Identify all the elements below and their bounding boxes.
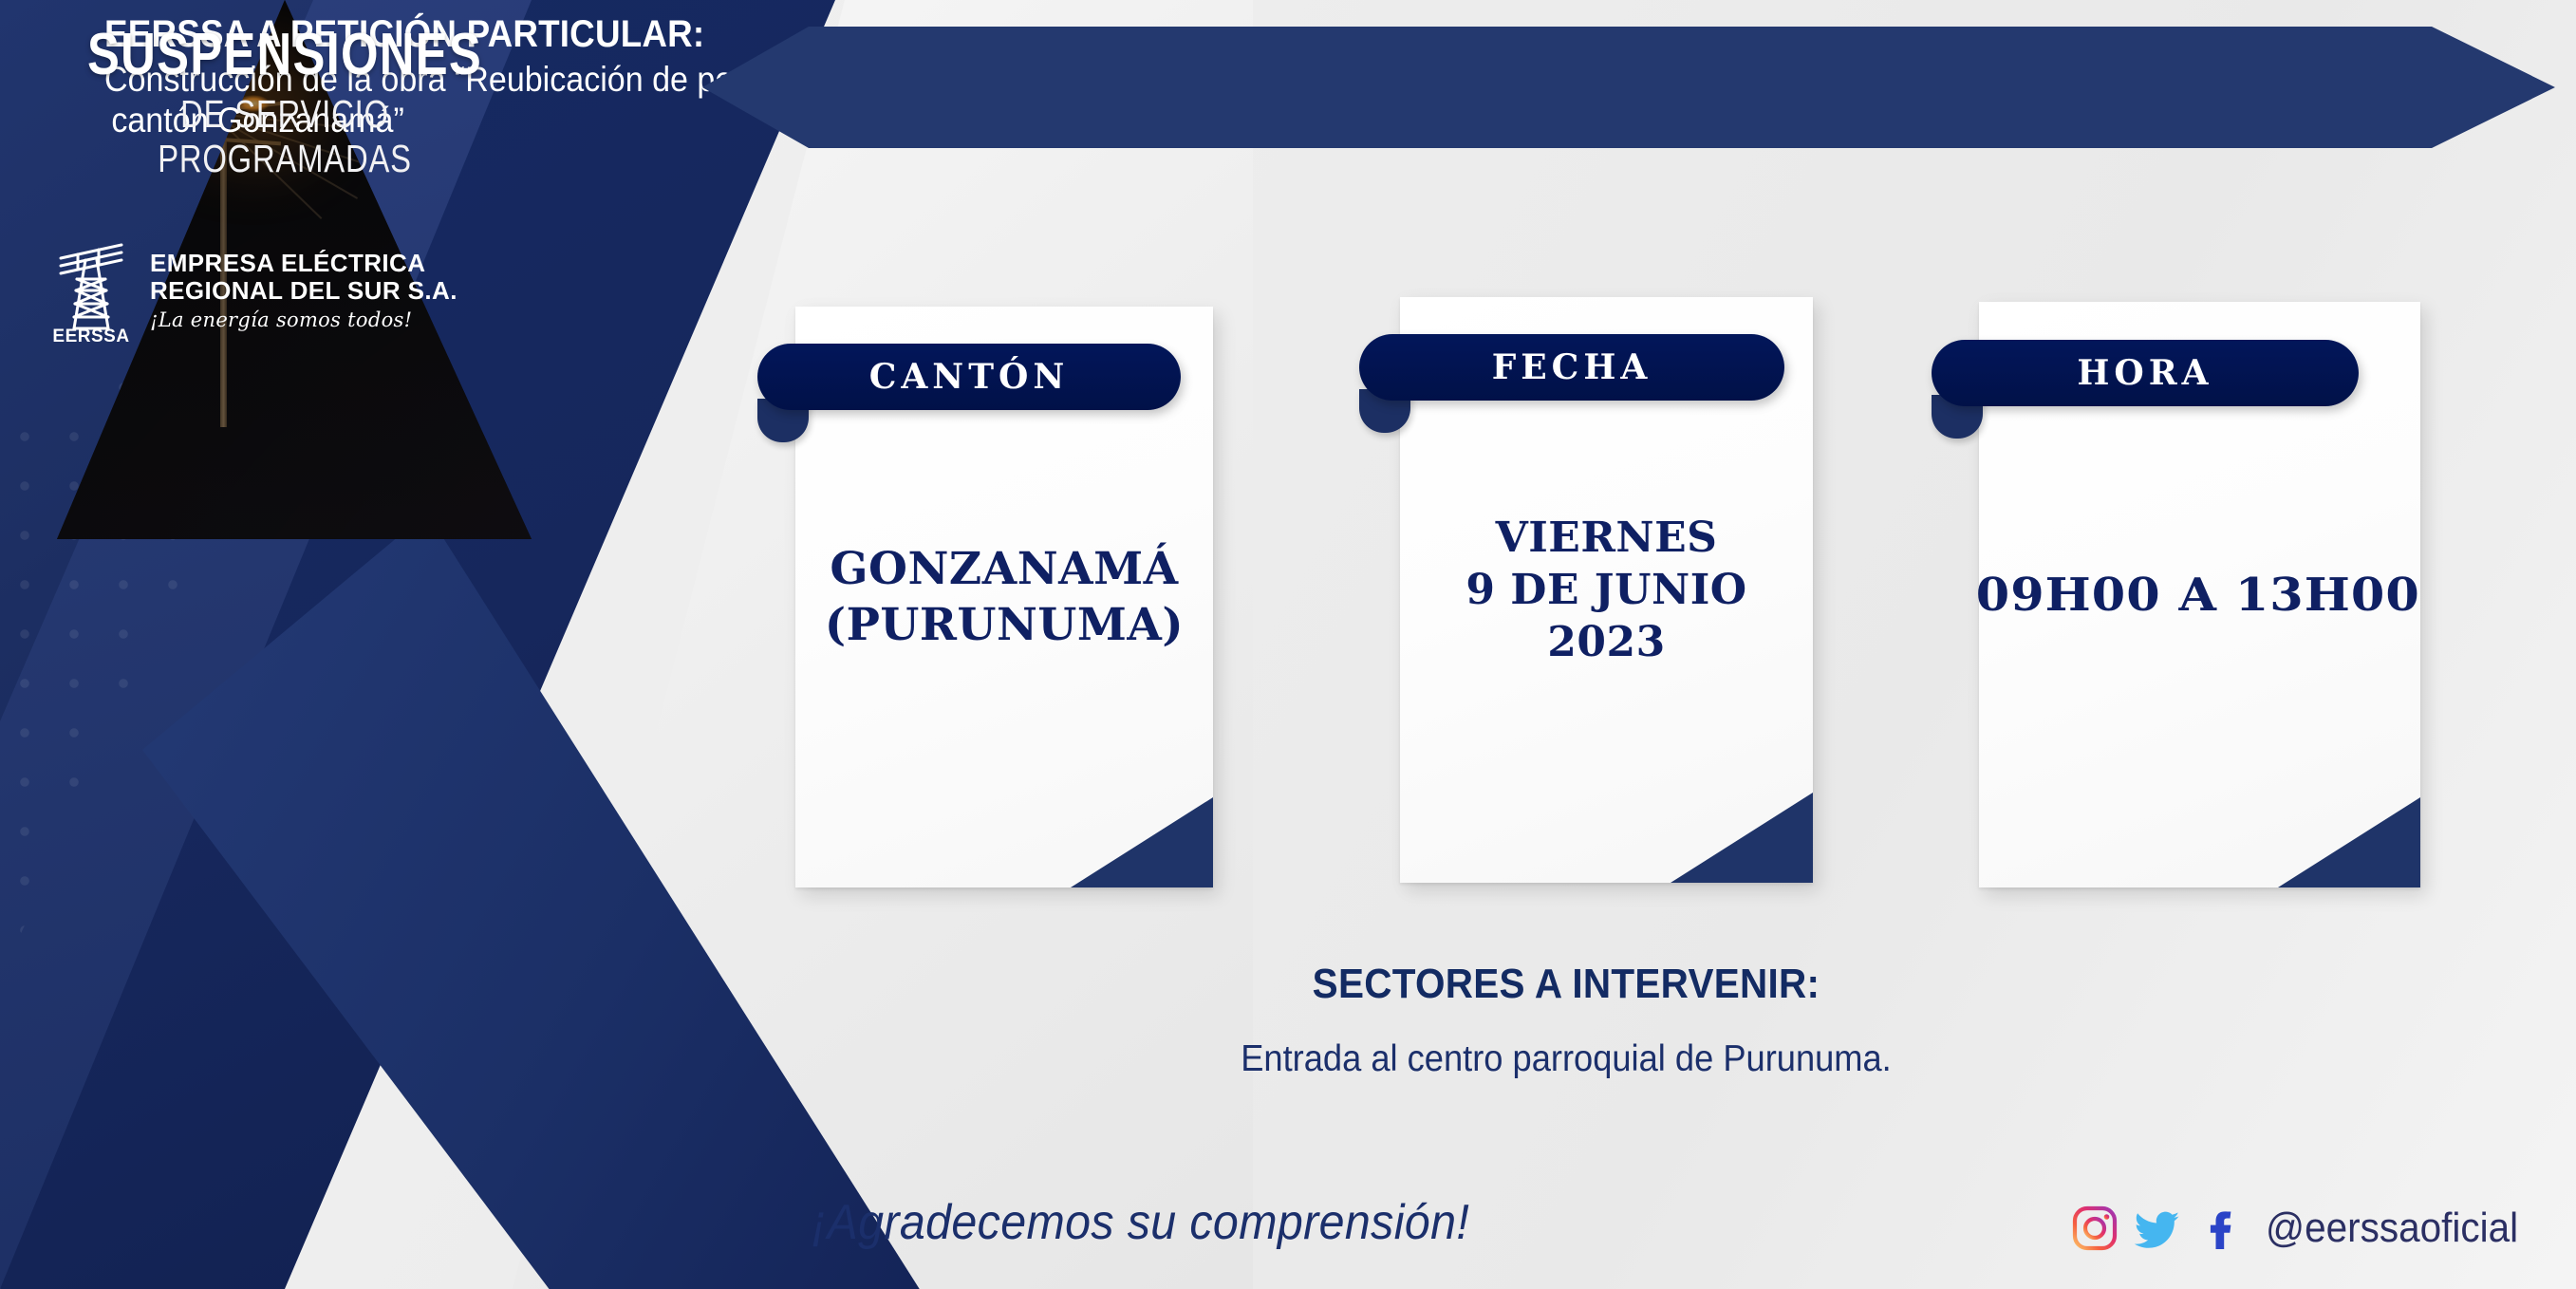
card-canton-value-line-2: (PURUNUMA) <box>795 597 1213 653</box>
instagram-icon[interactable] <box>2070 1204 2119 1253</box>
card-fecha-value-line-2: 9 DE JUNIO <box>1400 564 1813 616</box>
poster-canvas: SUSPENSIONES DE SERVICIO PROGRAMADAS <box>0 0 2576 1289</box>
card-fecha-label: FECHA <box>1359 334 1784 401</box>
card-fecha-value-line-1: VIERNES <box>1400 511 1813 563</box>
thanks-message: ¡Agradecemos su comprensión! <box>812 1194 1469 1251</box>
twitter-icon[interactable] <box>2133 1204 2182 1253</box>
sectores-section: SECTORES A INTERVENIR: Entrada al centro… <box>778 961 2354 1080</box>
sectores-body: Entrada al centro parroquial de Purunuma… <box>833 1038 2299 1080</box>
info-cards-group: GONZANAMÁ (PURUNUMA) CANTÓN VIERNES 9 DE… <box>0 0 2576 1289</box>
card-fecha-value: VIERNES 9 DE JUNIO 2023 <box>1400 511 1813 668</box>
social-handle[interactable]: @eerssaoficial <box>2266 1205 2518 1252</box>
card-canton-label: CANTÓN <box>757 344 1181 410</box>
card-hora-value-line-1: 09H00 A 13H00 <box>1975 569 2419 622</box>
card-canton-value: GONZANAMÁ (PURUNUMA) <box>795 541 1213 653</box>
sectores-title: SECTORES A INTERVENIR: <box>841 961 2290 1008</box>
facebook-icon[interactable] <box>2195 1204 2245 1253</box>
card-hora-value: 09H00 A 13H00 <box>1979 302 2420 887</box>
card-fecha-value-line-3: 2023 <box>1400 616 1813 668</box>
social-media-group: @eerssaoficial <box>2070 1204 2540 1253</box>
announcement-banner <box>702 27 2555 148</box>
card-canton-value-line-1: GONZANAMÁ <box>795 541 1213 597</box>
